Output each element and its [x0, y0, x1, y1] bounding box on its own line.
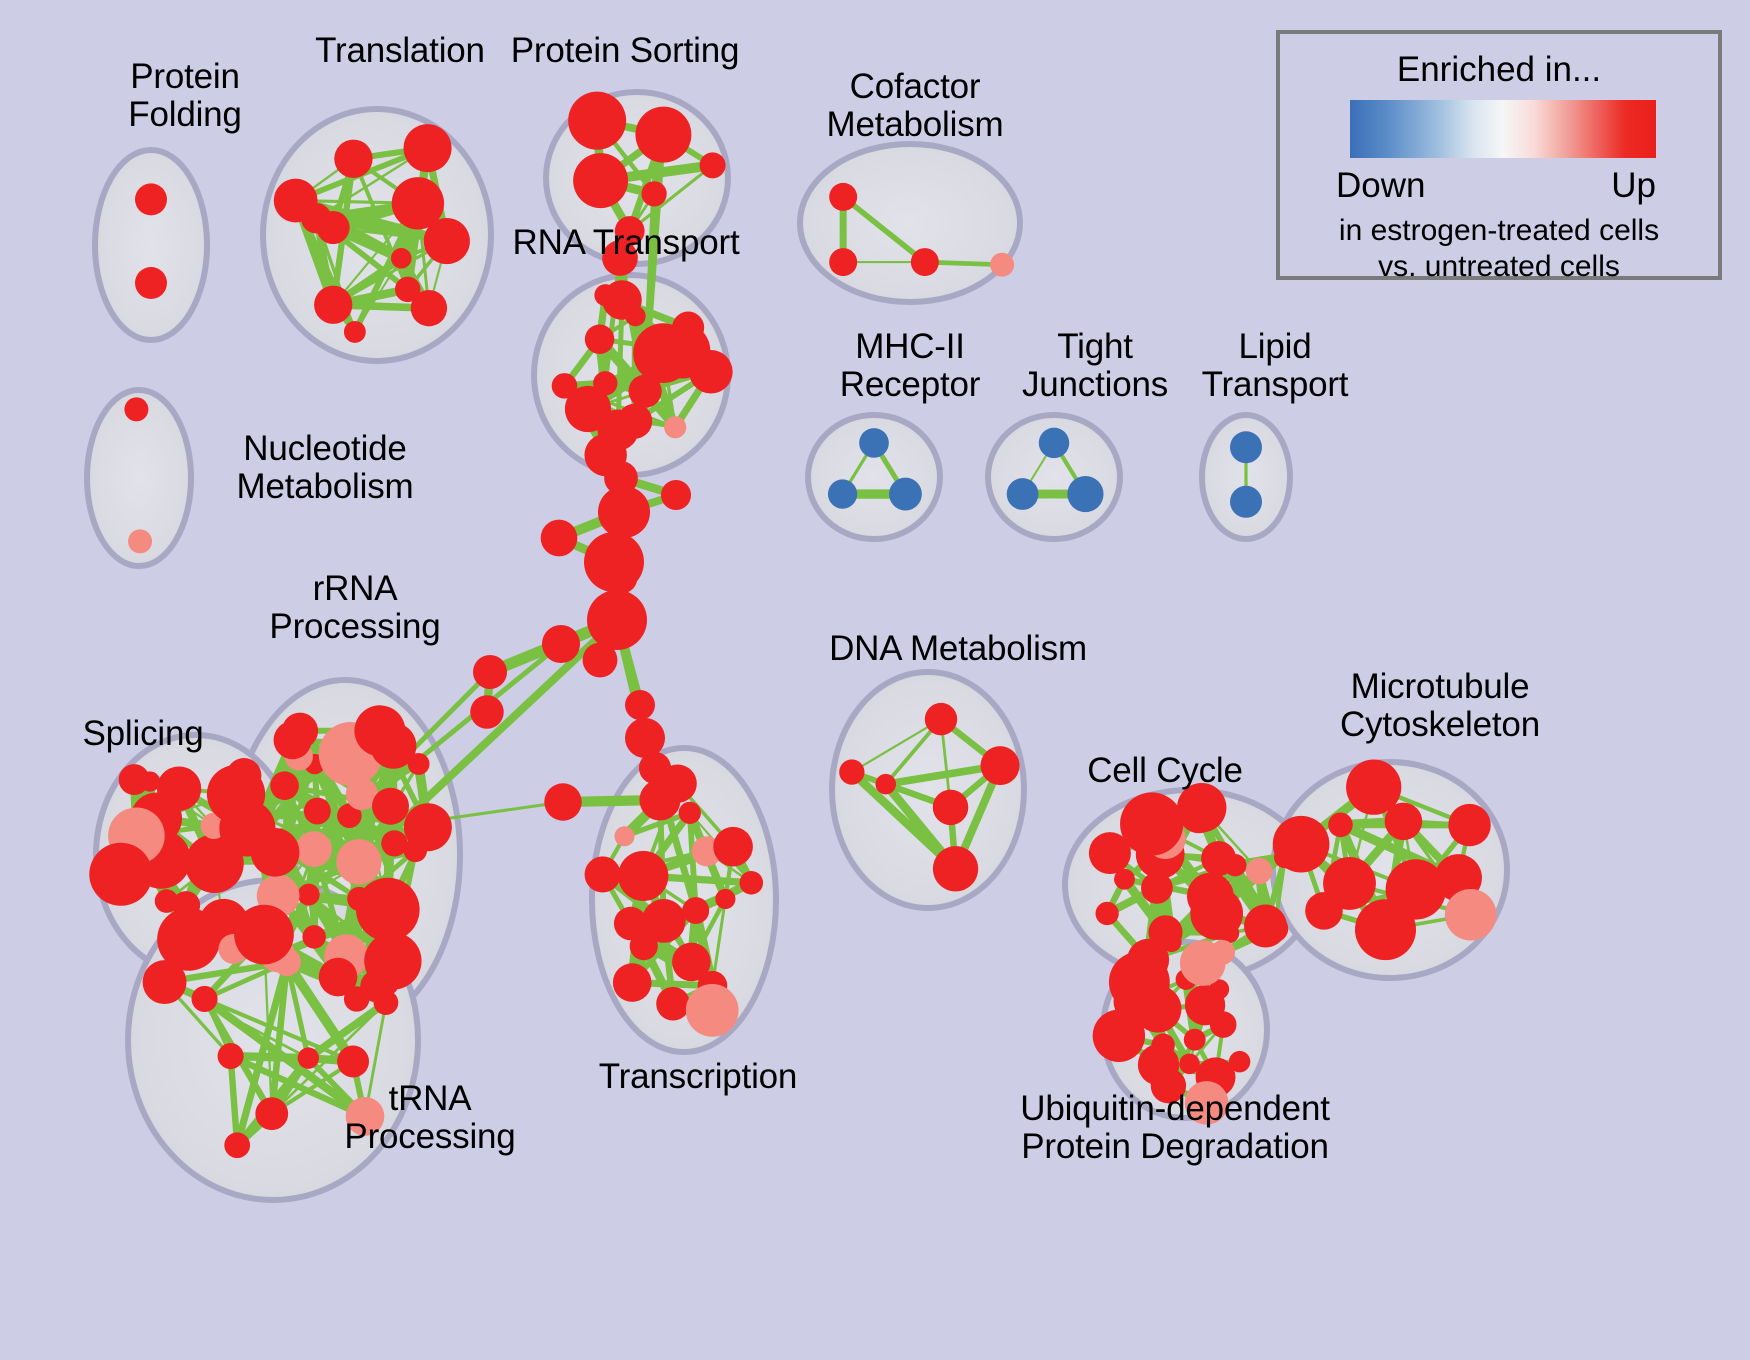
network-node[interactable]: [298, 1047, 319, 1068]
cluster-hull-dna-metabolism[interactable]: [832, 672, 1024, 908]
network-node[interactable]: [336, 839, 381, 884]
cluster-label-trna-processing: tRNA Processing: [315, 1080, 545, 1156]
network-node[interactable]: [1448, 804, 1490, 846]
network-node[interactable]: [124, 397, 148, 421]
network-node[interactable]: [274, 179, 318, 223]
network-node[interactable]: [1230, 431, 1262, 463]
network-node[interactable]: [602, 280, 642, 320]
network-node[interactable]: [541, 520, 578, 557]
network-node[interactable]: [552, 373, 578, 399]
cluster-label-translation: Translation: [285, 32, 515, 70]
cluster-label-splicing: Splicing: [58, 715, 228, 753]
cluster-label-cofactor-metabolism: Cofactor Metabolism: [795, 68, 1035, 144]
cluster-hull-cofactor-metabolism[interactable]: [800, 144, 1020, 302]
network-node[interactable]: [1230, 486, 1262, 518]
network-node[interactable]: [1184, 1029, 1206, 1051]
network-node[interactable]: [686, 984, 739, 1037]
cluster-label-nucleotide-metabolism: Nucleotide Metabolism: [200, 430, 450, 506]
network-node[interactable]: [135, 183, 167, 215]
network-node[interactable]: [218, 1043, 244, 1069]
network-node[interactable]: [1113, 955, 1162, 1004]
network-node[interactable]: [639, 752, 671, 784]
network-node[interactable]: [933, 790, 968, 825]
network-node[interactable]: [155, 889, 179, 913]
network-node[interactable]: [1007, 478, 1039, 510]
network-node[interactable]: [1445, 889, 1497, 941]
legend-subtitle-line-2: vs. untreated cells: [1280, 250, 1718, 284]
network-node[interactable]: [251, 828, 300, 877]
legend-high-label: Up: [1611, 166, 1656, 206]
cluster-label-lipid-transport: Lipid Transport: [1165, 328, 1385, 404]
network-node[interactable]: [1177, 783, 1226, 832]
network-node[interactable]: [679, 802, 701, 824]
cluster-label-dna-metabolism: DNA Metabolism: [818, 630, 1098, 668]
legend-color-bar: [1350, 100, 1656, 158]
network-node[interactable]: [1246, 858, 1272, 884]
network-node[interactable]: [639, 779, 680, 820]
network-node[interactable]: [334, 140, 372, 178]
network-node[interactable]: [1210, 1011, 1237, 1038]
network-node[interactable]: [625, 718, 665, 758]
network-node[interactable]: [424, 218, 470, 264]
network-node[interactable]: [119, 764, 150, 795]
network-node[interactable]: [839, 759, 864, 784]
network-node[interactable]: [933, 846, 978, 891]
network-node[interactable]: [89, 843, 152, 906]
network-node[interactable]: [1261, 915, 1288, 942]
network-node[interactable]: [234, 905, 294, 965]
network-node[interactable]: [1180, 940, 1226, 986]
network-node[interactable]: [372, 788, 409, 825]
cluster-label-microtubule-cytoskeleton: Microtubule Cytoskeleton: [1290, 668, 1590, 744]
network-node[interactable]: [1067, 476, 1103, 512]
cluster-label-cell-cycle: Cell Cycle: [1045, 752, 1285, 790]
network-node[interactable]: [713, 827, 753, 867]
network-node[interactable]: [128, 529, 152, 553]
network-node[interactable]: [356, 878, 420, 942]
network-node[interactable]: [585, 324, 614, 353]
cluster-label-protein-sorting: Protein Sorting: [505, 32, 745, 70]
network-node[interactable]: [226, 758, 261, 793]
network-node[interactable]: [625, 690, 655, 720]
network-node[interactable]: [583, 643, 618, 678]
network-node[interactable]: [282, 713, 318, 749]
network-node[interactable]: [304, 798, 331, 825]
network-node[interactable]: [387, 886, 407, 906]
network-node[interactable]: [829, 183, 857, 211]
network-node[interactable]: [607, 563, 638, 594]
network-node[interactable]: [689, 350, 733, 394]
enrichment-map-figure: Protein FoldingTranslationProtein Sortin…: [0, 0, 1750, 1360]
network-node[interactable]: [302, 925, 326, 949]
network-node[interactable]: [135, 267, 167, 299]
network-node[interactable]: [859, 428, 889, 458]
network-node[interactable]: [598, 486, 650, 538]
cluster-label-rna-transport: RNA Transport: [502, 224, 750, 262]
network-node[interactable]: [473, 655, 507, 689]
network-node[interactable]: [314, 286, 352, 324]
network-node[interactable]: [656, 987, 690, 1021]
network-node[interactable]: [587, 590, 647, 650]
network-node[interactable]: [889, 478, 922, 511]
network-node[interactable]: [374, 990, 399, 1015]
legend-box: Enriched in... Down Up in estrogen-treat…: [1276, 30, 1722, 280]
network-node[interactable]: [614, 826, 634, 846]
network-node[interactable]: [542, 625, 580, 663]
network-node[interactable]: [829, 248, 857, 276]
network-node[interactable]: [354, 705, 405, 756]
network-node[interactable]: [990, 253, 1014, 277]
network-node[interactable]: [224, 1132, 250, 1158]
network-node[interactable]: [391, 248, 412, 269]
network-node[interactable]: [1305, 892, 1343, 930]
network-node[interactable]: [981, 746, 1020, 785]
network-node[interactable]: [411, 290, 447, 326]
network-node[interactable]: [381, 830, 407, 856]
network-node[interactable]: [585, 856, 621, 892]
legend-title: Enriched in...: [1280, 50, 1718, 90]
network-node[interactable]: [1224, 854, 1246, 876]
network-node[interactable]: [344, 321, 366, 343]
network-node[interactable]: [296, 831, 332, 867]
network-node[interactable]: [875, 774, 896, 795]
network-node[interactable]: [911, 248, 939, 276]
network-node[interactable]: [1346, 760, 1401, 815]
network-node[interactable]: [613, 963, 652, 1002]
network-node[interactable]: [661, 480, 691, 510]
network-node[interactable]: [408, 753, 430, 775]
legend-subtitle-line-1: in estrogen-treated cells: [1280, 214, 1718, 248]
network-node[interactable]: [618, 851, 668, 901]
network-node[interactable]: [404, 803, 452, 851]
network-node[interactable]: [641, 181, 666, 206]
network-node[interactable]: [682, 897, 709, 924]
network-node[interactable]: [404, 124, 452, 172]
network-node[interactable]: [157, 766, 201, 810]
network-node[interactable]: [1093, 1010, 1145, 1062]
network-node[interactable]: [298, 884, 320, 906]
network-node[interactable]: [828, 479, 857, 508]
network-node[interactable]: [925, 703, 957, 735]
cluster-label-rrna-processing: rRNA Processing: [245, 570, 465, 646]
network-node[interactable]: [700, 152, 726, 178]
network-node[interactable]: [1089, 832, 1131, 874]
network-node[interactable]: [337, 1046, 369, 1078]
network-node[interactable]: [1273, 816, 1330, 873]
network-node[interactable]: [1039, 428, 1069, 458]
network-node[interactable]: [664, 416, 686, 438]
cluster-hull-protein-folding[interactable]: [95, 150, 207, 340]
network-node[interactable]: [1095, 902, 1118, 925]
network-node[interactable]: [544, 783, 581, 820]
legend-low-label: Down: [1336, 166, 1425, 206]
network-node[interactable]: [597, 409, 638, 450]
network-node[interactable]: [672, 312, 704, 344]
cluster-label-transcription: Transcription: [578, 1058, 818, 1096]
network-node[interactable]: [192, 986, 218, 1012]
network-node[interactable]: [739, 871, 763, 895]
network-node[interactable]: [344, 986, 369, 1011]
network-node[interactable]: [573, 153, 628, 208]
cluster-label-protein-folding: Protein Folding: [85, 58, 285, 134]
network-node[interactable]: [568, 92, 626, 150]
cluster-label-ubiquitin-protein-degradation: Ubiquitin-dependent Protein Degradation: [1000, 1090, 1350, 1166]
network-node[interactable]: [1355, 899, 1416, 960]
network-node[interactable]: [470, 695, 503, 728]
network-node[interactable]: [1328, 812, 1353, 837]
network-node[interactable]: [715, 889, 735, 909]
network-node[interactable]: [143, 960, 187, 1004]
network-node[interactable]: [1229, 1051, 1250, 1072]
network-node[interactable]: [270, 771, 299, 800]
network-node[interactable]: [635, 107, 691, 163]
network-node[interactable]: [614, 907, 647, 940]
network-node[interactable]: [255, 1097, 288, 1130]
